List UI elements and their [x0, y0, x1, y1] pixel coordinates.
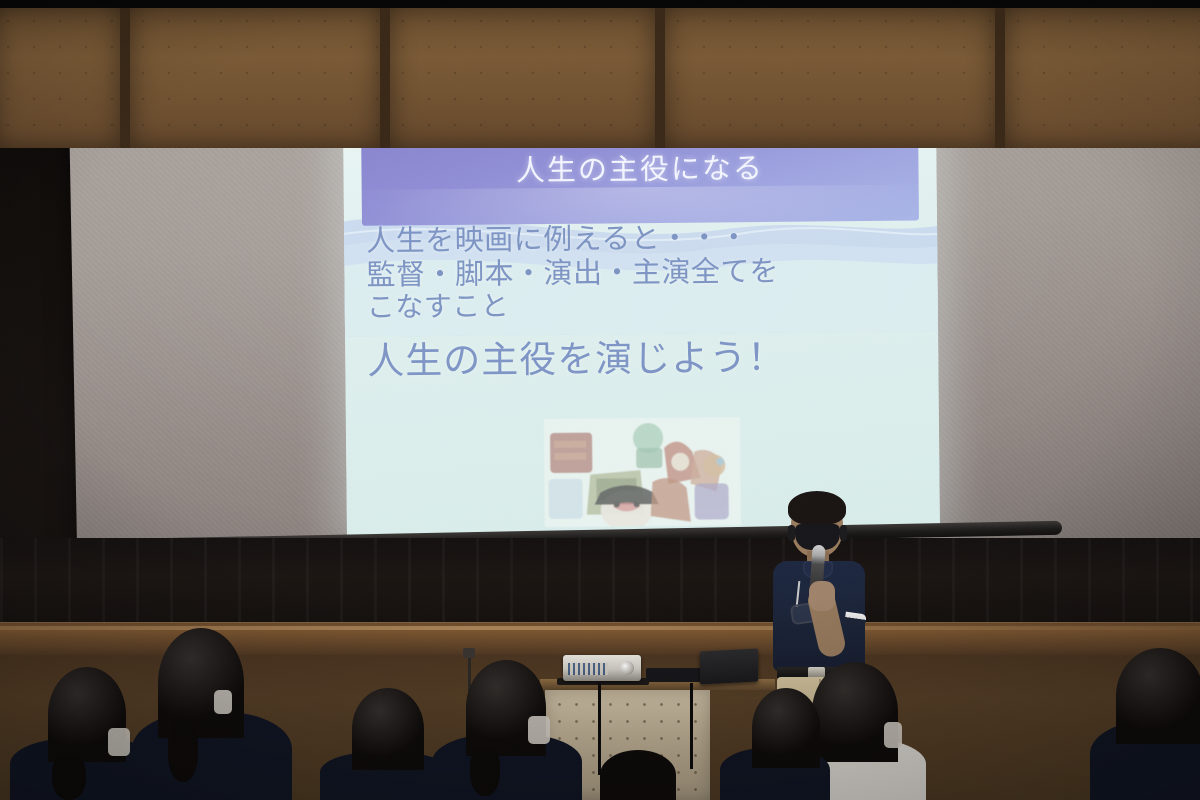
- wall-panel-texture: [1005, 8, 1200, 148]
- cable-clip-icon: [463, 648, 475, 658]
- laptop-cable: [690, 683, 693, 769]
- stage-curtain: [0, 538, 1200, 634]
- wall-panel: [660, 8, 1000, 148]
- audience-ponytail: [52, 754, 86, 800]
- slide-body-text: 人生を映画に例えると・・・ 監督・脚本・演出・主演全てを こなすこと 人生の主役…: [366, 219, 927, 383]
- projector-lens-icon: [620, 661, 634, 675]
- wall-panel: [0, 8, 125, 148]
- audience-hair-highlight: [352, 688, 424, 770]
- wall-panel-texture: [0, 8, 120, 148]
- audience-ponytail: [470, 746, 500, 796]
- audience-face-mask-icon: [528, 716, 550, 744]
- slide-title: 人生の主役になる: [361, 143, 918, 190]
- projected-slide: 人生の主役になる 人生を映画に例えると・・・ 監督・脚本・演出・主演全てを こな…: [343, 115, 940, 535]
- audience-hair-highlight: [752, 688, 820, 768]
- wall-panel-texture: [665, 8, 995, 148]
- slide-line-2: 監督・脚本・演出・主演全てを: [366, 253, 926, 292]
- anime-collage-icon: [544, 417, 741, 527]
- data-projector: [563, 655, 641, 681]
- equipment-black-box: [646, 668, 704, 682]
- audience-head: [600, 750, 676, 800]
- projector-power-cable: [598, 683, 601, 775]
- wall-panel-texture: [130, 8, 380, 148]
- presenter-hand: [809, 581, 835, 611]
- audience-face-mask-icon: [884, 722, 902, 748]
- presenter-hair: [788, 491, 846, 525]
- stage-rail-highlight: [0, 626, 1200, 630]
- audience-ponytail: [168, 720, 198, 782]
- audience-face-mask-icon: [214, 690, 232, 714]
- audience-hair-highlight: [1116, 648, 1200, 744]
- curtain-folds: [0, 538, 1200, 634]
- slide-line-3: こなすこと: [367, 287, 927, 325]
- slide-emphasis-line: 人生の主役を演じよう！: [367, 335, 927, 383]
- auditorium-presentation-photo: 人生の主役になる 人生を映画に例えると・・・ 監督・脚本・演出・主演全てを こな…: [0, 0, 1200, 800]
- slide-line-1: 人生を映画に例えると・・・: [366, 219, 926, 258]
- wall-panel-texture: [390, 8, 655, 148]
- wall-panel: [125, 8, 385, 148]
- mask-strap-left: [788, 525, 795, 541]
- wall-panel: [385, 8, 660, 148]
- audience-face-mask-icon: [108, 728, 130, 756]
- slide-illustration-image: [544, 417, 741, 527]
- wall-panel: [1000, 8, 1200, 148]
- laptop-computer: [700, 648, 758, 684]
- audience-hair-highlight: [158, 628, 244, 738]
- projector-vent-icon: [568, 663, 608, 675]
- mask-strap-right: [840, 525, 847, 541]
